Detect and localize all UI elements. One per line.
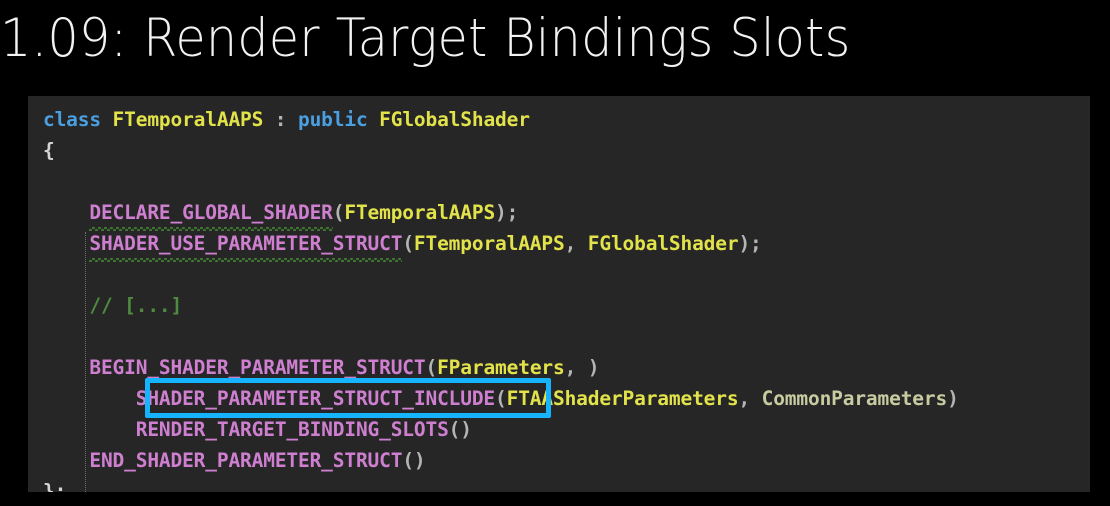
code-token: FGlobalShader <box>379 108 530 131</box>
code-token: SHADER_USE_PARAMETER_STRUCT <box>89 228 402 259</box>
code-token: RENDER_TARGET_BINDING_SLOTS <box>136 418 449 441</box>
code-token: FParameters <box>437 356 565 379</box>
code-token: FTemporalAAPS <box>414 232 565 255</box>
code-token: ( <box>426 356 438 379</box>
code-token: FTAAShaderParameters <box>507 387 739 410</box>
code-line: DECLARE_GLOBAL_SHADER(FTemporalAAPS); <box>28 197 959 228</box>
code-token <box>43 356 89 379</box>
code-line <box>28 259 959 290</box>
code-line: RENDER_TARGET_BINDING_SLOTS() <box>28 414 959 445</box>
code-line: END_SHADER_PARAMETER_STRUCT() <box>28 445 959 476</box>
code-token: DECLARE_GLOBAL_SHADER <box>89 197 332 228</box>
code-token: ) <box>947 387 959 410</box>
code-token <box>43 387 136 410</box>
code-token: ); <box>495 201 518 224</box>
code-line <box>28 166 959 197</box>
code-token <box>43 418 136 441</box>
code-token: CommonParameters <box>762 387 947 410</box>
code-token: , ) <box>565 356 600 379</box>
code-token: , <box>565 232 588 255</box>
code-token: ( <box>402 232 414 255</box>
code-block-panel: class FTemporalAAPS : public FGlobalShad… <box>28 96 1090 492</box>
code-token: }; <box>43 480 66 492</box>
code-token: END_SHADER_PARAMETER_STRUCT <box>89 449 402 472</box>
code-line: class FTemporalAAPS : public FGlobalShad… <box>28 104 959 135</box>
source-code: class FTemporalAAPS : public FGlobalShad… <box>28 104 959 492</box>
code-token: () <box>402 449 425 472</box>
code-token: FTemporalAAPS <box>113 108 264 131</box>
code-token: ); <box>738 232 761 255</box>
code-line: // [...] <box>28 290 959 321</box>
code-token <box>43 201 89 224</box>
code-line: }; <box>28 476 959 492</box>
page-title: 1.09: Render Target Bindings Slots <box>0 0 1023 82</box>
code-token <box>43 294 89 317</box>
code-token: ( <box>495 387 507 410</box>
code-token: // [...] <box>89 294 182 317</box>
code-line: { <box>28 135 959 166</box>
code-token: ( <box>333 201 345 224</box>
code-token <box>43 449 89 472</box>
code-token: BEGIN_SHADER_PARAMETER_STRUCT <box>89 356 425 379</box>
code-token <box>43 232 89 255</box>
code-token: FTemporalAAPS <box>344 201 495 224</box>
code-line: SHADER_PARAMETER_STRUCT_INCLUDE(FTAAShad… <box>28 383 959 414</box>
code-line: SHADER_USE_PARAMETER_STRUCT(FTemporalAAP… <box>28 228 959 259</box>
code-token: class <box>43 108 113 131</box>
code-token: { <box>43 139 55 162</box>
code-line <box>28 321 959 352</box>
code-token: , <box>738 387 761 410</box>
code-token: SHADER_PARAMETER_STRUCT_INCLUDE <box>136 387 495 410</box>
code-line: BEGIN_SHADER_PARAMETER_STRUCT(FParameter… <box>28 352 959 383</box>
code-token: () <box>449 418 472 441</box>
code-token: public <box>298 108 379 131</box>
code-token: : <box>263 108 298 131</box>
code-token: FGlobalShader <box>588 232 739 255</box>
